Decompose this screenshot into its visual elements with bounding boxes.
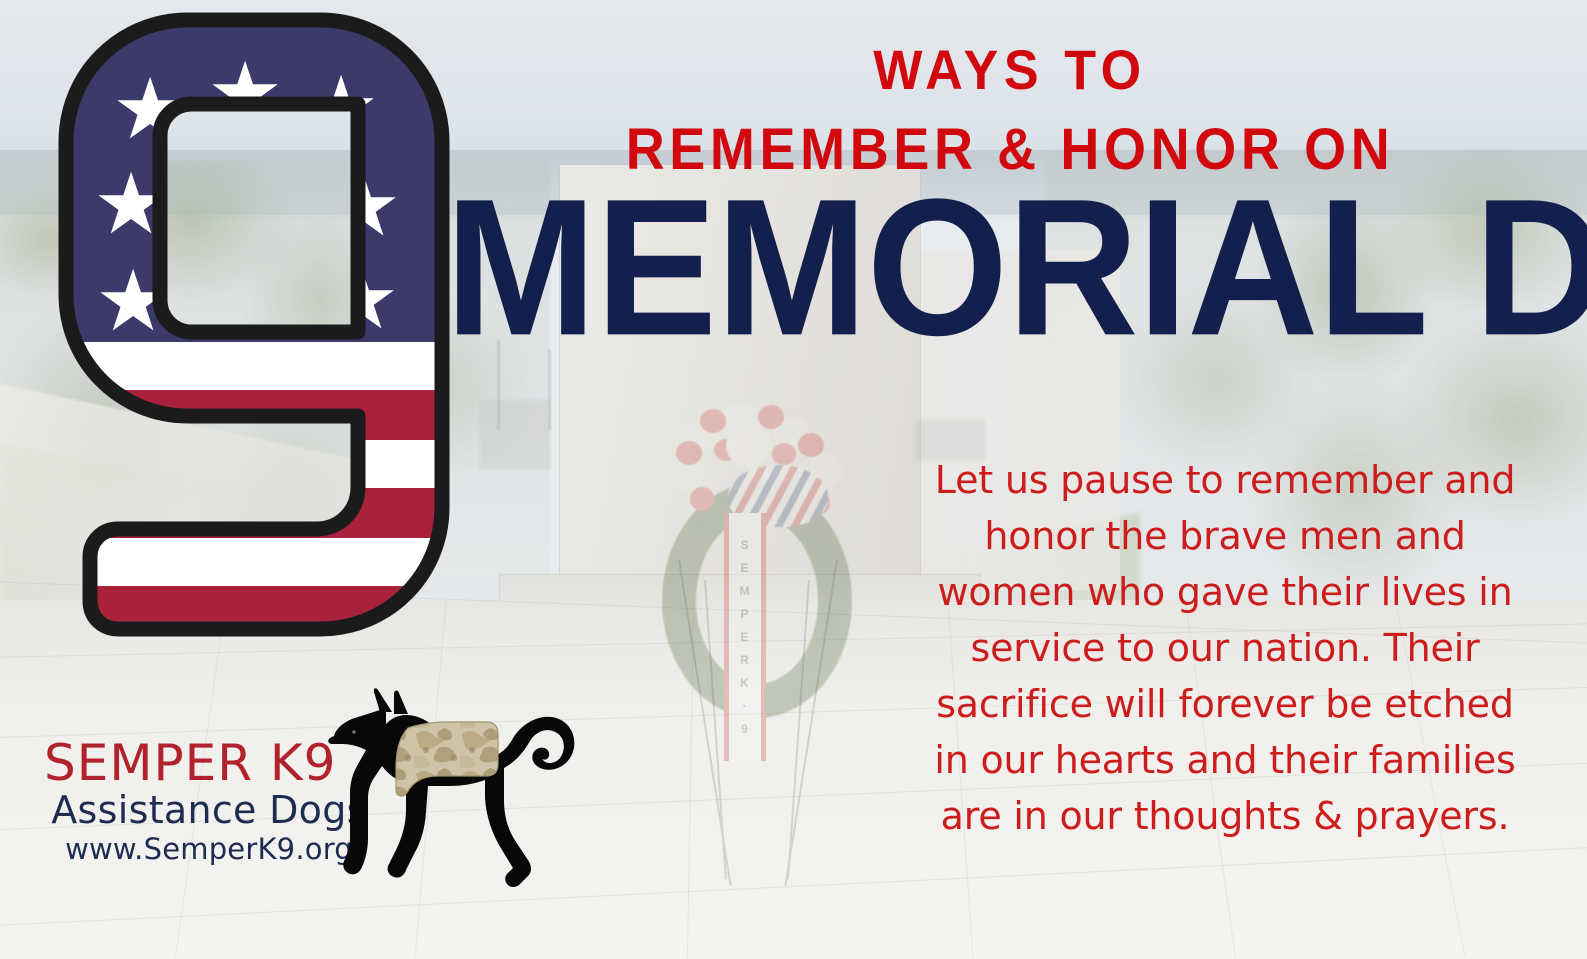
page-title: MEMORIAL DAY [445,176,1570,358]
ribbon-lettering: S E M P E R K · 9 [724,513,766,761]
ribbon-letter: R [740,653,750,667]
ribbon-letter: · [743,699,748,713]
memorial-message: Let us pause to remember and honor the b… [905,452,1545,844]
memorial-day-poster: S E M P E R K · 9 [0,0,1587,959]
kicker-line-1: WAYS TO [494,30,1526,110]
wreath-ribbon: S E M P E R K · 9 [724,513,766,761]
ribbon-letter: P [740,607,749,621]
message-line: in our hearts and their families [905,732,1545,788]
message-line: honor the brave men and [905,508,1545,564]
message-line: Let us pause to remember and [905,452,1545,508]
service-dog-silhouette [322,688,592,898]
message-line: service to our nation. Their [905,620,1545,676]
dog-eye [352,730,355,733]
ribbon-letter: E [740,561,749,575]
dog-body [328,688,574,887]
ribbon-letter: 9 [741,722,749,736]
message-line: are in our thoughts & prayers. [905,788,1545,844]
background-structure [480,400,550,470]
message-line: women who gave their lives in [905,564,1545,620]
ribbon-letter: M [740,584,751,598]
memorial-wreath: S E M P E R K · 9 [640,395,870,765]
flag-numeral-nine [58,12,450,637]
ribbon-letter: S [740,538,749,552]
ribbon-letter: K [740,676,750,690]
message-line: sacrifice will forever be etched [905,676,1545,732]
ribbon-letter: E [740,630,749,644]
